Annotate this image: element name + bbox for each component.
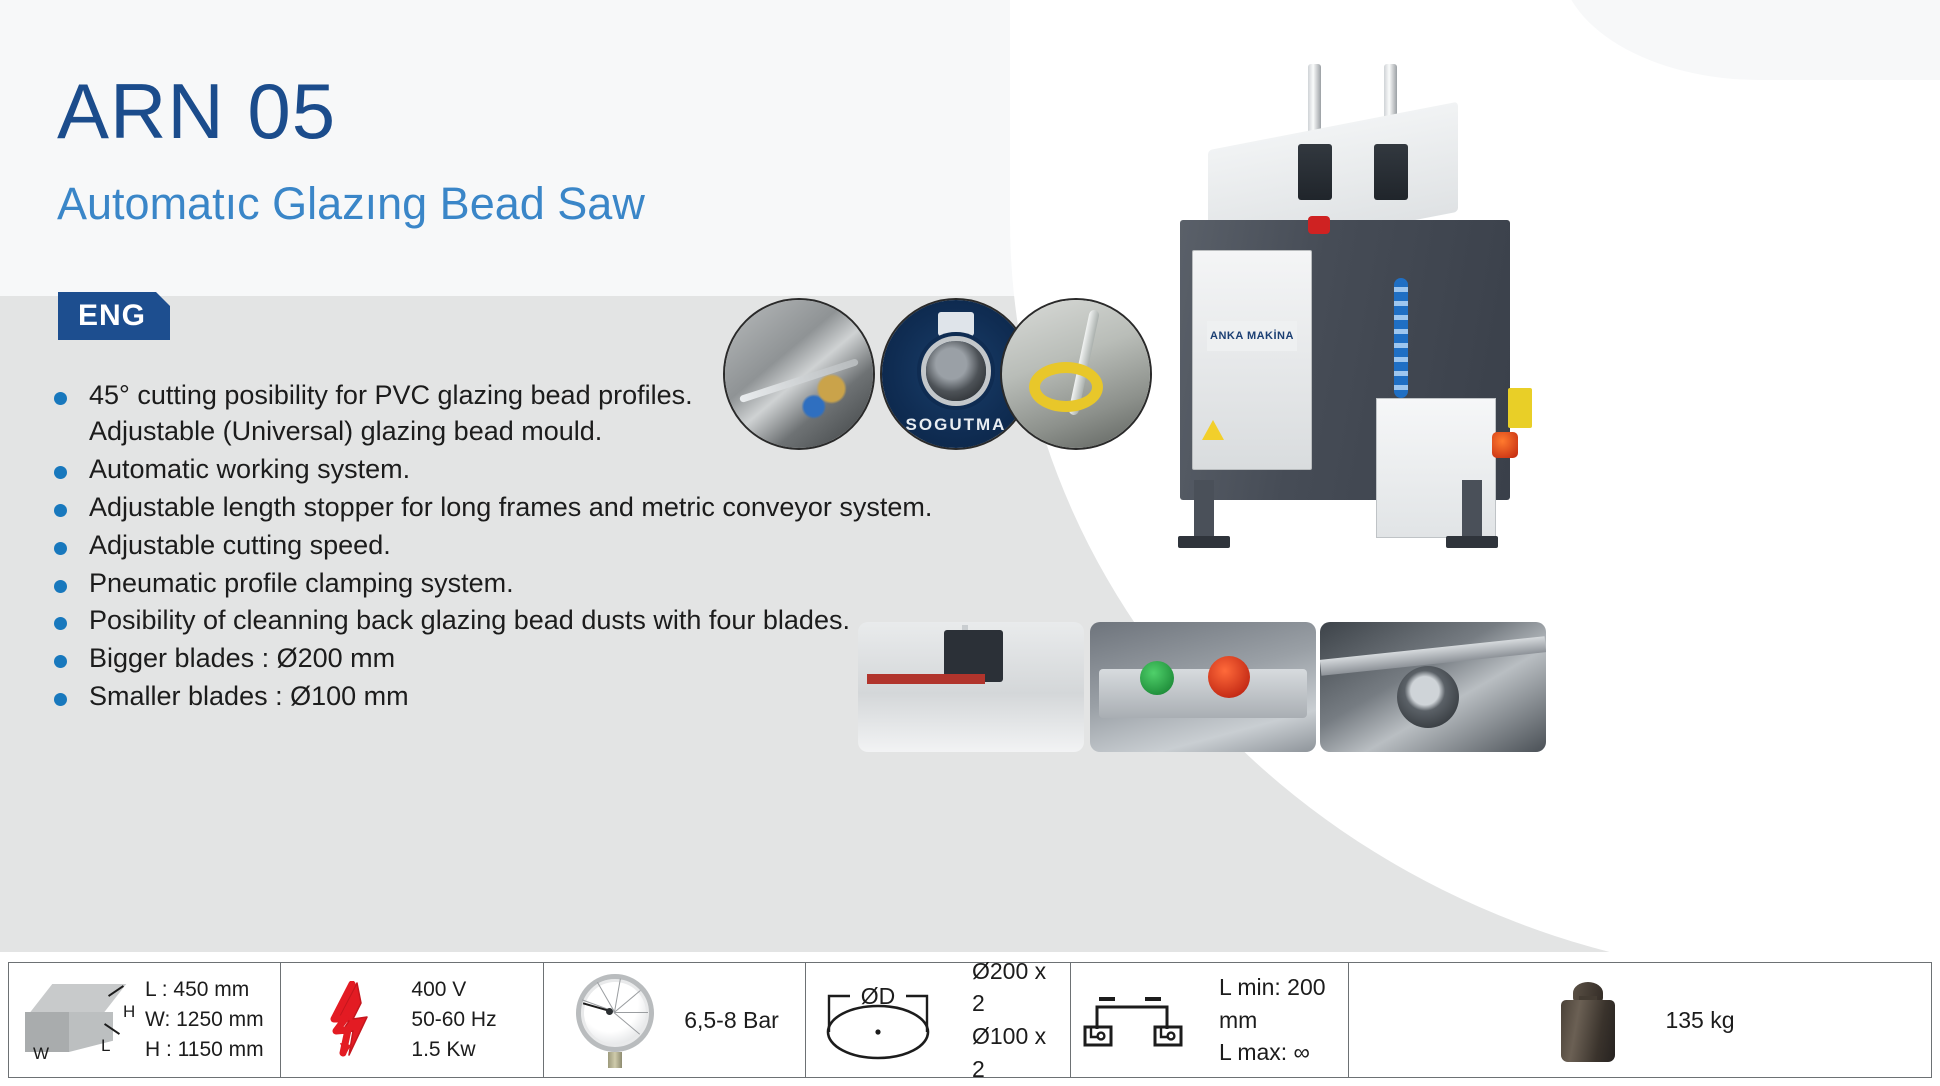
blade-drive-photo: [1320, 622, 1546, 752]
cylinder-head-icon: [1298, 144, 1332, 200]
page-subtitle: Automatıc Glazıng Bead Saw: [57, 178, 645, 230]
product-datasheet-page: ARN 05 Automatıc Glazıng Bead Saw ENG 45…: [0, 0, 1940, 1086]
pressure-gauge-icon: [570, 970, 662, 1070]
feature-text: Posibility of cleanning back glazing bea…: [89, 603, 850, 639]
bullet-icon: [54, 466, 67, 479]
box-label-l: L: [101, 1036, 110, 1056]
electrical-bolt-icon: [327, 981, 373, 1059]
brand-logo: ANKA MAKİNA: [1207, 321, 1297, 351]
coolant-nozzle-image: [725, 300, 873, 448]
control-buttons-photo: [1090, 622, 1316, 752]
bullet-icon: [54, 542, 67, 555]
box-label-h: H: [123, 1002, 135, 1022]
blade-disc-icon: [1397, 666, 1459, 728]
spec-cell-electrical: 400 V 50-60 Hz 1.5 Kw: [281, 963, 544, 1077]
spec-value-weight: 135 kg: [1665, 1004, 1734, 1037]
red-button-icon: [1208, 656, 1250, 698]
yellow-coil-icon: [1029, 362, 1103, 412]
list-item: Adjustable length stopper for long frame…: [54, 490, 1014, 526]
warning-sticker: [1508, 388, 1532, 428]
box-label-w: W: [33, 1044, 49, 1064]
cylinder-head-icon: [1374, 144, 1408, 200]
spec-value-pressure: 6,5-8 Bar: [684, 1004, 779, 1037]
air-hose-icon: [1394, 278, 1408, 398]
red-bar-icon: [867, 674, 985, 684]
svg-text:ØD: ØD: [861, 983, 896, 1009]
coolant-tank-image: [1002, 300, 1150, 448]
nut-icon: [926, 341, 985, 400]
bullet-icon: [54, 693, 67, 706]
spec-cell-pressure: 6,5-8 Bar: [544, 963, 806, 1077]
spec-cell-profile-length: L min: 200 mm L max: ∞: [1071, 963, 1349, 1077]
blade-diameter-icon: ØD: [816, 974, 956, 1066]
emergency-switch-icon: [1492, 432, 1518, 458]
blade-drive-image: [1320, 622, 1546, 752]
dimensions-box-icon: H L W: [19, 974, 145, 1066]
spec-cell-blade-diameter: ØD Ø200 x 2 Ø100 x 2: [806, 963, 1071, 1077]
feature-text: Pneumatic profile clamping system.: [89, 566, 514, 602]
specification-bar: H L W L : 450 mm W: 1250 mm H : 1150 mm …: [8, 962, 1932, 1078]
language-badge-label: ENG: [78, 299, 146, 333]
spec-cell-weight: 135 kg: [1349, 963, 1931, 1077]
profile-length-icon: [1081, 989, 1199, 1051]
bullet-icon: [54, 580, 67, 593]
emergency-button-icon: [1308, 216, 1330, 234]
spec-cell-dimensions: H L W L : 450 mm W: 1250 mm H : 1150 mm: [9, 963, 281, 1077]
machine-foot: [1178, 536, 1230, 548]
cutting-head-image: [858, 622, 1084, 752]
weight-icon: [1545, 974, 1631, 1066]
feature-text: 45° cutting posibility for PVC glazing b…: [89, 378, 693, 450]
machine-leg: [1194, 480, 1214, 540]
list-item: Adjustable cutting speed.: [54, 528, 1014, 564]
coolant-tank-photo: [1000, 298, 1152, 450]
control-buttons-image: [1090, 622, 1316, 752]
feature-text: Smaller blades : Ø100 mm: [89, 679, 409, 715]
cutting-head-photo: [858, 622, 1084, 752]
spec-value-electrical: 400 V 50-60 Hz 1.5 Kw: [411, 975, 496, 1064]
feature-text: Bigger blades : Ø200 mm: [89, 641, 395, 677]
arn-05-machine-photo: ANKA MAKİNA: [1150, 40, 1610, 560]
green-button-icon: [1140, 661, 1174, 695]
bullet-icon: [54, 617, 67, 630]
spec-value-blade-diameter: Ø200 x 2 Ø100 x 2: [972, 955, 1060, 1086]
language-badge: ENG: [58, 292, 170, 340]
table-plate-icon: [1099, 669, 1307, 718]
feature-text: Adjustable length stopper for long frame…: [89, 490, 932, 526]
spec-value-profile-length: L min: 200 mm L max: ∞: [1219, 971, 1338, 1069]
list-item: Automatic working system.: [54, 452, 1014, 488]
coolant-nozzle-photo: [723, 298, 875, 450]
machine-leg: [1462, 480, 1482, 540]
list-item: Pneumatic profile clamping system.: [54, 566, 1014, 602]
machine-foot: [1446, 536, 1498, 548]
spec-value-dimensions: L : 450 mm W: 1250 mm H : 1150 mm: [145, 975, 264, 1064]
bullet-icon: [54, 504, 67, 517]
fitting-icon: [938, 312, 974, 336]
page-title: ARN 05: [57, 72, 336, 150]
bullet-icon: [54, 392, 67, 405]
feature-text: Adjustable cutting speed.: [89, 528, 391, 564]
bullet-icon: [54, 655, 67, 668]
feature-text: Automatic working system.: [89, 452, 410, 488]
